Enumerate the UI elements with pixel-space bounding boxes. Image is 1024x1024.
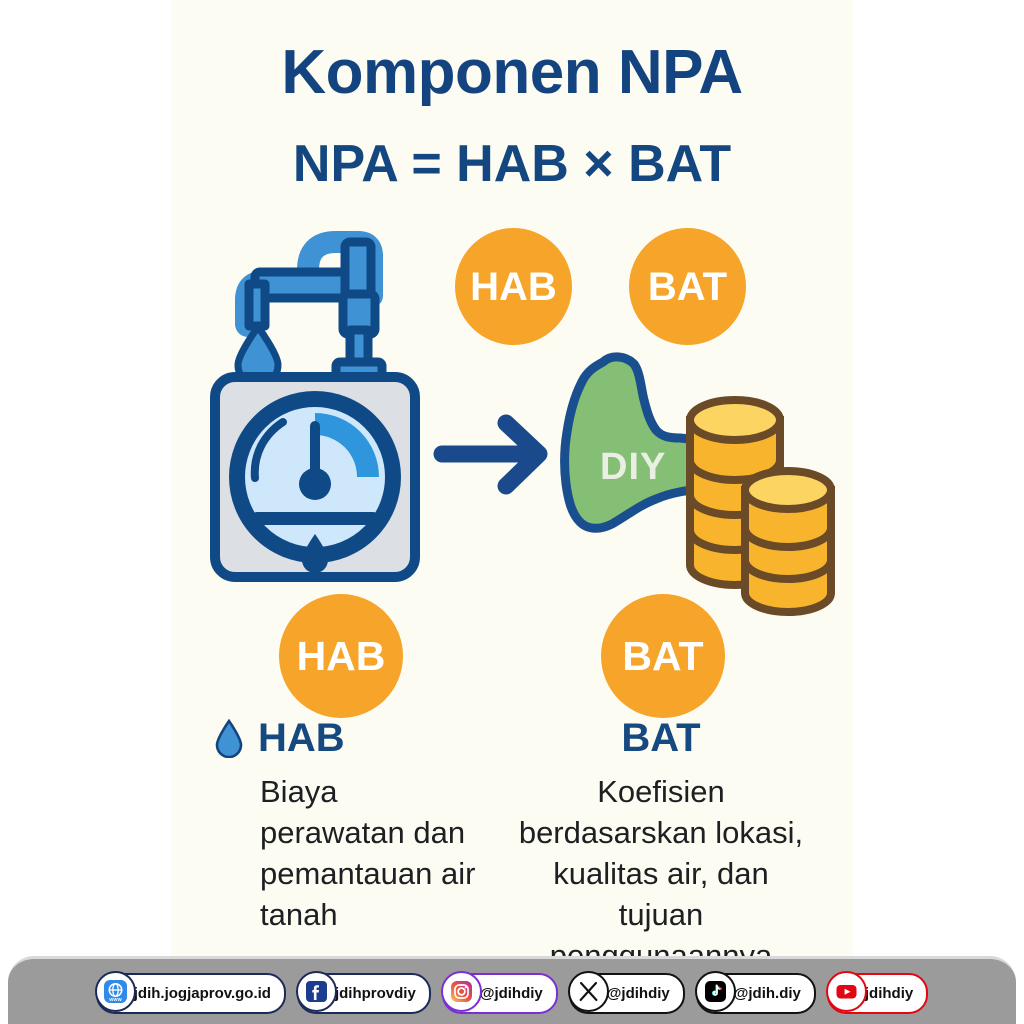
column-hab: HAB Biaya perawatan dan pemantauan air t… (186, 718, 476, 936)
column-hab-body: Biaya perawatan dan pemantauan air tanah (186, 772, 476, 936)
tiktok-icon (695, 971, 736, 1012)
social-label-instagram: @jdihdiy (480, 985, 543, 1002)
column-bat: BAT Koefisien berdasarskan lokasi, kuali… (516, 718, 806, 977)
badge-hab-bottom: HAB (279, 594, 403, 718)
page-title: Komponen NPA (171, 40, 853, 105)
water-meter-icon (205, 222, 465, 602)
facebook-icon (296, 971, 337, 1012)
social-badge-tiktok[interactable]: @jdih.diy (696, 973, 816, 1014)
badge-bat-bottom: BAT (601, 594, 725, 718)
diy-map-icon (540, 340, 860, 625)
social-badge-x[interactable]: @jdihdiy (569, 973, 685, 1014)
badge-bat-top: BAT (629, 228, 746, 345)
social-label-website: jdih.jogjaprov.go.id (134, 985, 271, 1002)
column-bat-heading: BAT (621, 718, 700, 758)
youtube-icon (826, 971, 867, 1012)
social-badge-facebook[interactable]: jdihprovdiy (297, 973, 431, 1014)
social-label-tiktok: @jdih.diy (734, 985, 801, 1002)
social-badge-website[interactable]: WWW jdih.jogjaprov.go.id (96, 973, 286, 1014)
column-bat-heading-row: BAT (516, 718, 806, 758)
social-badge-instagram[interactable]: @jdihdiy (442, 973, 558, 1014)
column-bat-body: Koefisien berdasarskan lokasi, kualitas … (516, 772, 806, 977)
formula-text: NPA = HAB × BAT (171, 134, 853, 194)
globe-icon: WWW (95, 971, 136, 1012)
infographic-canvas: Komponen NPA NPA = HAB × BAT HAB BAT (0, 0, 1024, 1024)
column-hab-heading: HAB (258, 718, 345, 758)
social-label-facebook: jdihprovdiy (335, 985, 416, 1002)
map-label-diy: DIY (600, 446, 666, 489)
footer-social-bar: WWW jdih.jogjaprov.go.id jdihprovdiy (8, 956, 1016, 1024)
social-label-x: @jdihdiy (607, 985, 670, 1002)
social-badge-youtube[interactable]: jdihdiy (827, 973, 928, 1014)
svg-text:WWW: WWW (109, 997, 122, 1002)
x-icon (568, 971, 609, 1012)
coin-stack-icon (690, 400, 831, 612)
badge-hab-top: HAB (455, 228, 572, 345)
water-drop-icon (214, 718, 244, 758)
social-label-youtube: jdihdiy (865, 985, 913, 1002)
instagram-icon (441, 971, 482, 1012)
column-hab-heading-row: HAB (186, 718, 476, 758)
